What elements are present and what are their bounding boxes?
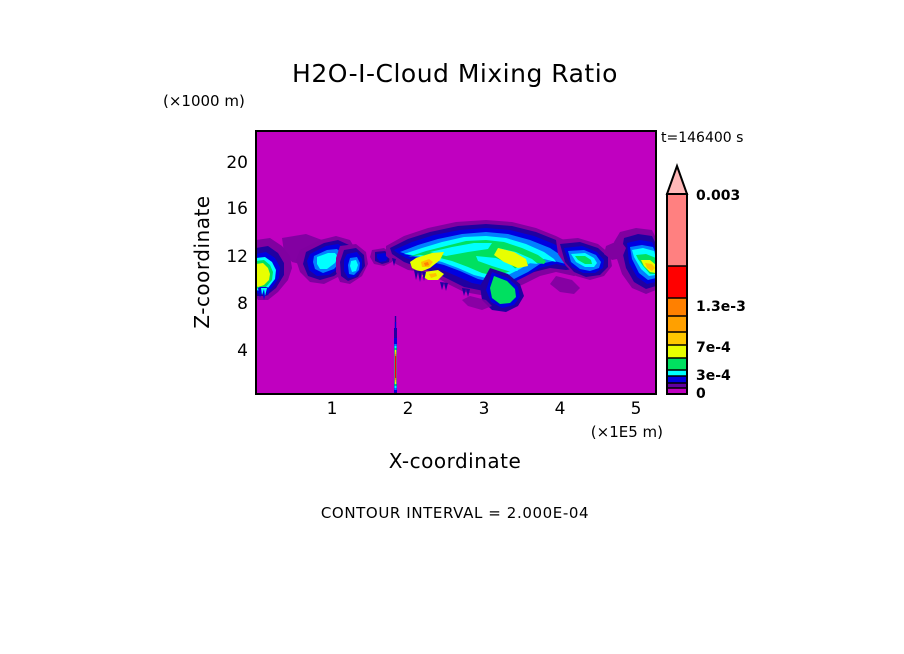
colorbar-tick-label: 3e-4 bbox=[696, 368, 731, 384]
colorbar-band bbox=[667, 358, 687, 370]
x-tick-label: 1 bbox=[327, 399, 338, 419]
y-tick-label: 12 bbox=[226, 247, 248, 267]
plot-area bbox=[256, 131, 656, 394]
colorbar-tick-label: 1.3e-3 bbox=[696, 299, 746, 315]
colorbar-band bbox=[667, 376, 687, 383]
time-label: t=146400 s bbox=[661, 130, 743, 146]
y-tick-label: 20 bbox=[226, 153, 248, 173]
z-unit-label: (×1000 m) bbox=[163, 92, 245, 110]
x-tick-label: 4 bbox=[555, 399, 566, 419]
colorbar-band bbox=[667, 194, 687, 266]
y-tick-label: 4 bbox=[237, 341, 248, 361]
page-title: H2O-I-Cloud Mixing Ratio bbox=[292, 59, 618, 88]
y-axis-title: Z-coordinate bbox=[190, 195, 214, 328]
x-tick-label: 5 bbox=[631, 399, 642, 419]
y-tick-label: 16 bbox=[226, 199, 248, 219]
x-unit-label: (×1E5 m) bbox=[591, 423, 663, 441]
colorbar-band bbox=[667, 345, 687, 358]
x-tick-label: 3 bbox=[479, 399, 490, 419]
colorbar-band bbox=[667, 332, 687, 345]
colorbar-band bbox=[667, 316, 687, 332]
colorbar-tick-label: 0.003 bbox=[696, 188, 740, 204]
contour-figure: H2O-I-Cloud Mixing Ratio (×1000 m) t=146… bbox=[0, 0, 904, 654]
colorbar-band bbox=[667, 266, 687, 298]
colorbar-tick-label: 0 bbox=[696, 386, 706, 402]
contour-interval-note: CONTOUR INTERVAL = 2.000E-04 bbox=[321, 504, 589, 522]
y-tick-label: 8 bbox=[237, 294, 248, 314]
colorbar-band bbox=[667, 298, 687, 316]
colorbar-tick-label: 7e-4 bbox=[696, 340, 731, 356]
colorbar-band bbox=[667, 370, 687, 376]
colorbar-band bbox=[667, 383, 687, 388]
x-axis-title: X-coordinate bbox=[389, 449, 522, 473]
x-tick-label: 2 bbox=[403, 399, 414, 419]
